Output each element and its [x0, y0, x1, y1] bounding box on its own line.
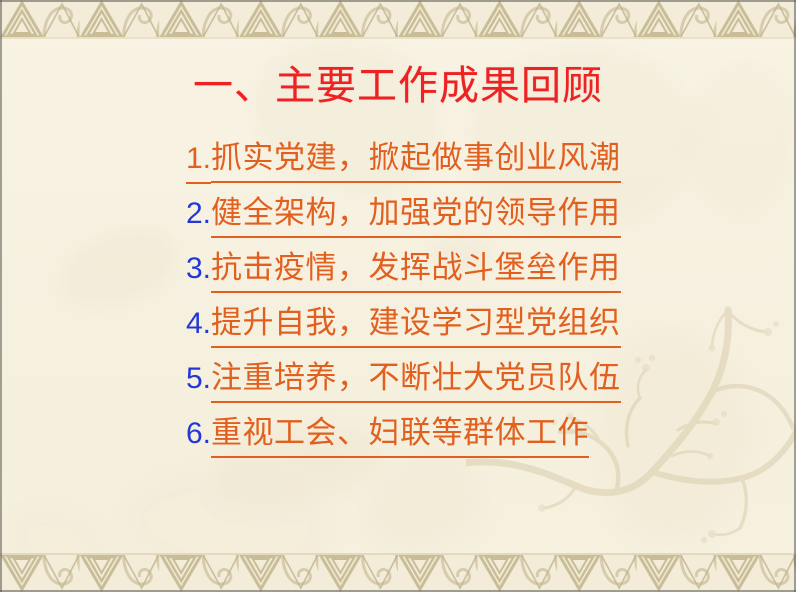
list-item-number: 1.	[186, 137, 211, 184]
page-title: 一、主要工作成果回顾	[0, 62, 796, 110]
list-item-label[interactable]: 抓实党建，掀起做事创业风潮	[211, 136, 621, 183]
presentation-slide: 一、主要工作成果回顾 1.抓实党建，掀起做事创业风潮 2.健全架构，加强党的领导…	[0, 0, 796, 592]
list-item[interactable]: 3.抗击疫情，发挥战斗堡垒作用	[186, 246, 646, 301]
list-item-label[interactable]: 注重培养，不断壮大党员队伍	[211, 356, 621, 403]
outline-list: 1.抓实党建，掀起做事创业风潮 2.健全架构，加强党的领导作用 3.抗击疫情，发…	[186, 136, 646, 466]
slide-content: 一、主要工作成果回顾 1.抓实党建，掀起做事创业风潮 2.健全架构，加强党的领导…	[0, 0, 796, 592]
list-item[interactable]: 2.健全架构，加强党的领导作用	[186, 191, 646, 246]
list-item[interactable]: 6.重视工会、妇联等群体工作	[186, 411, 646, 466]
list-item-number: 4.	[186, 302, 211, 346]
list-item-label[interactable]: 健全架构，加强党的领导作用	[211, 191, 621, 238]
list-item-number: 2.	[186, 192, 211, 236]
list-item-number: 5.	[186, 357, 211, 401]
list-item[interactable]: 4.提升自我，建设学习型党组织	[186, 301, 646, 356]
list-item-label[interactable]: 重视工会、妇联等群体工作	[211, 411, 589, 458]
list-item-label[interactable]: 提升自我，建设学习型党组织	[211, 301, 621, 348]
list-item[interactable]: 5.注重培养，不断壮大党员队伍	[186, 356, 646, 411]
list-item-number: 3.	[186, 247, 211, 291]
list-item-label[interactable]: 抗击疫情，发挥战斗堡垒作用	[211, 246, 621, 293]
list-item[interactable]: 1.抓实党建，掀起做事创业风潮	[186, 136, 646, 191]
list-item-number: 6.	[186, 412, 211, 456]
